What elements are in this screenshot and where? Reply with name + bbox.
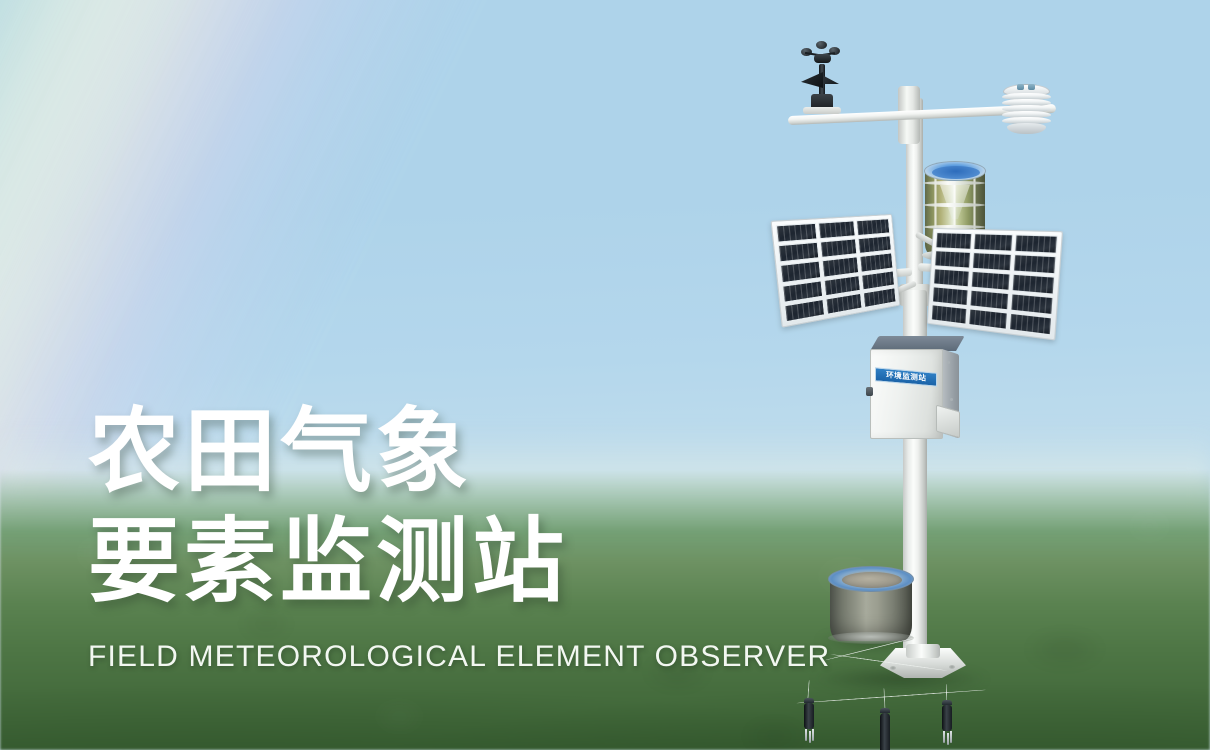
solar-cell — [1009, 313, 1052, 336]
solar-cell — [931, 304, 968, 324]
anemometer-hub — [814, 54, 831, 63]
solar-cell — [969, 290, 1009, 311]
evaporation-pan-water — [842, 572, 902, 588]
solar-cell — [820, 239, 858, 259]
solar-cell — [818, 220, 856, 239]
rain-gauge-aperture — [932, 166, 980, 179]
evaporation-pan-icon — [828, 566, 914, 646]
control-box: 环境监测站 — [868, 336, 966, 446]
probe-pin — [943, 731, 945, 743]
shield-connector — [1017, 84, 1024, 90]
probe-pin — [950, 731, 952, 743]
weather-station-illustration: 环境监测站 — [740, 18, 1100, 750]
rain-gauge-ring — [923, 181, 985, 185]
control-box-door — [870, 349, 943, 439]
solar-cell — [780, 261, 821, 283]
evaporation-pan-rim — [828, 566, 914, 592]
sensor-cable — [807, 680, 809, 700]
solar-cell — [776, 223, 818, 243]
solar-cell — [973, 233, 1013, 252]
solar-cell — [784, 299, 825, 323]
base-collar — [906, 644, 940, 658]
solar-cell — [968, 308, 1008, 329]
solar-cell — [863, 287, 897, 308]
probe-pin — [812, 729, 814, 741]
control-box-screw — [950, 398, 953, 401]
probe-pin — [947, 733, 949, 745]
evaporation-pan-foot — [828, 632, 914, 644]
soil-probe-1 — [804, 698, 814, 729]
shield-connector — [1028, 84, 1035, 90]
solar-cell — [822, 257, 859, 278]
solar-panel-left — [770, 214, 900, 328]
sensor-cable — [883, 688, 885, 710]
solar-cell — [935, 232, 972, 250]
probe-body — [942, 705, 952, 731]
wind-vane-fin — [801, 72, 823, 88]
soil-sensor-group — [790, 658, 990, 750]
solar-cell — [933, 268, 970, 287]
solar-cell — [1014, 234, 1058, 253]
solar-cell — [859, 253, 893, 273]
sensor-cable — [796, 689, 986, 703]
control-box-screw — [947, 361, 950, 364]
solar-cell — [1013, 254, 1057, 274]
wind-vane-fin — [824, 71, 839, 84]
probe-body — [804, 703, 814, 729]
solar-cell — [934, 250, 971, 268]
control-box-label-text: 环境监测站 — [886, 371, 926, 382]
product-banner: 环境监测站 — [0, 0, 1210, 750]
solar-cell — [856, 218, 890, 236]
solar-cell — [932, 286, 969, 306]
probe-pin — [805, 729, 807, 741]
wind-sensor-icon — [795, 38, 853, 118]
rain-gauge-rim — [924, 161, 986, 181]
wind-sensor-mount — [803, 107, 841, 114]
probe-body — [880, 713, 890, 750]
shield-bottom-cap — [1007, 123, 1046, 134]
radiation-shield-icon — [998, 82, 1056, 136]
solar-panel-right — [927, 228, 1063, 341]
solar-cell — [1012, 274, 1056, 295]
solar-cell — [971, 271, 1011, 291]
soil-probe-2 — [880, 708, 890, 750]
solar-cell — [858, 236, 892, 255]
control-box-latch — [866, 387, 873, 396]
soil-probe-3 — [942, 700, 952, 731]
solar-cell — [778, 242, 820, 263]
solar-cell — [1010, 293, 1053, 315]
anemometer-cup — [816, 41, 827, 49]
solar-cell — [972, 252, 1012, 271]
probe-pin — [809, 731, 811, 743]
rain-gauge-ring — [923, 203, 985, 207]
solar-cell — [825, 293, 862, 315]
